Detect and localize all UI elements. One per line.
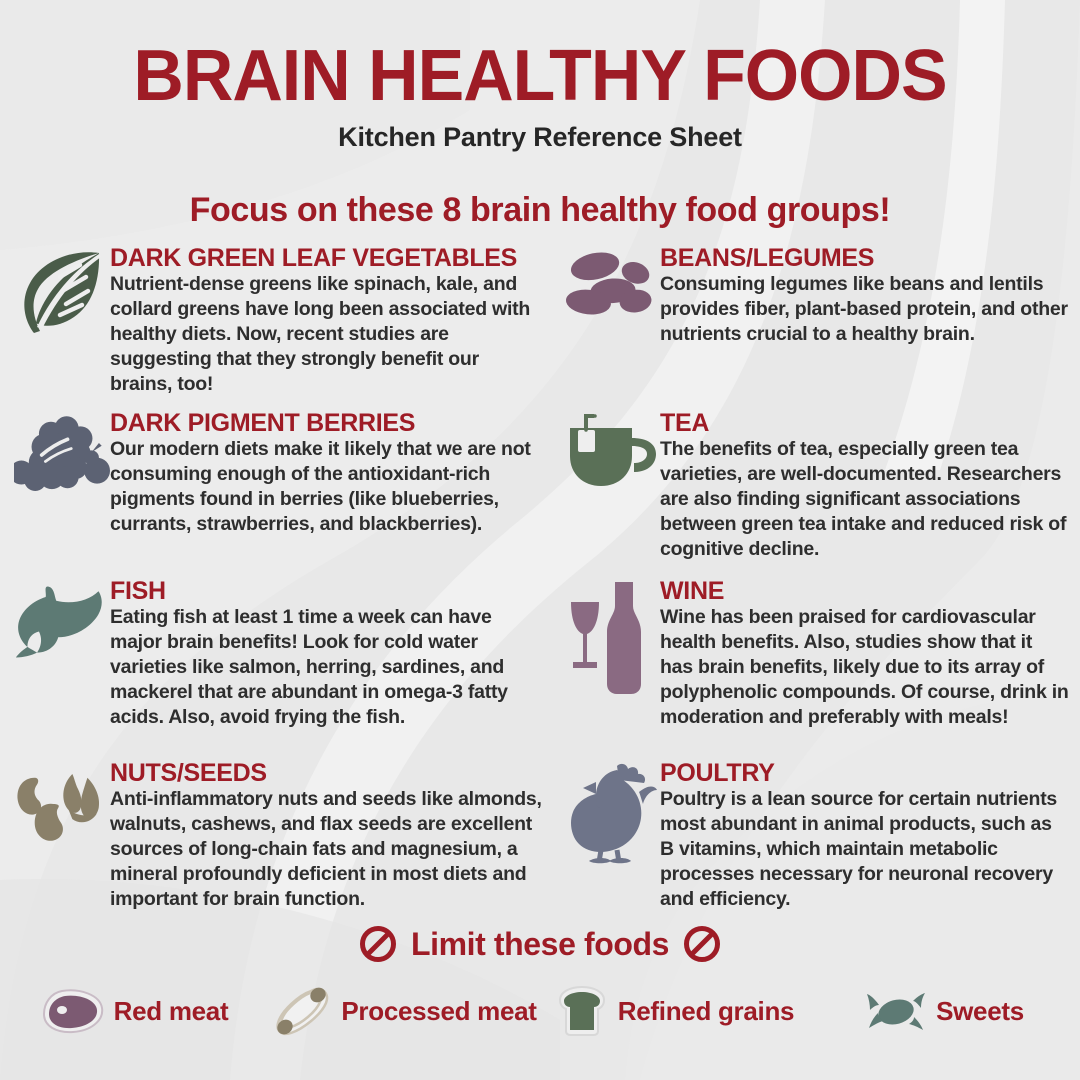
- food-group-beans-legumes: BEANS/LEGUMES Consuming legumes like bea…: [556, 243, 1080, 408]
- food-group-poultry: POULTRY Poultry is a lean source for cer…: [556, 758, 1080, 918]
- prohibited-icon: [683, 925, 721, 963]
- food-group-title: TEA: [660, 410, 1070, 436]
- food-group-text: TEA The benefits of tea, especially gree…: [660, 408, 1070, 562]
- food-group-tea: TEA The benefits of tea, especially gree…: [556, 408, 1080, 576]
- food-group-title: POULTRY: [660, 760, 1070, 786]
- focus-heading: Focus on these 8 brain healthy food grou…: [0, 191, 1080, 230]
- berries-icon: [14, 408, 110, 504]
- food-group-dark-pigment-berries: DARK PIGMENT BERRIES Our modern diets ma…: [0, 408, 556, 576]
- food-group-text: BEANS/LEGUMES Consuming legumes like bea…: [660, 243, 1070, 347]
- beans-icon: [564, 243, 660, 339]
- food-group-text: DARK PIGMENT BERRIES Our modern diets ma…: [110, 408, 542, 537]
- food-group-title: DARK PIGMENT BERRIES: [110, 410, 542, 436]
- food-group-nuts-seeds: NUTS/SEEDS Anti-inflammatory nuts and se…: [0, 758, 556, 918]
- page-title: BRAIN HEALTHY FOODS: [16, 0, 1064, 112]
- limit-foods-list: Red meat Processed meat Refined grains: [0, 985, 1080, 1037]
- food-group-text: FISH Eating fish at least 1 time a week …: [110, 576, 542, 730]
- hotdog-icon: [273, 985, 331, 1037]
- food-group-text: POULTRY Poultry is a lean source for cer…: [660, 758, 1070, 912]
- food-group-text: WINE Wine has been praised for cardiovas…: [660, 576, 1070, 730]
- wine-bottle-glass-icon: [564, 576, 660, 672]
- limit-item-red-meat: Red meat: [0, 988, 270, 1034]
- limit-item-label: Refined grains: [618, 996, 794, 1027]
- candy-icon: [866, 991, 926, 1031]
- teacup-icon: [564, 408, 660, 504]
- food-group-text: DARK GREEN LEAF VEGETABLES Nutrient-dens…: [110, 243, 542, 397]
- food-group-description: Anti-inflammatory nuts and seeds like al…: [110, 787, 542, 912]
- food-group-description: The benefits of tea, especially green te…: [660, 437, 1070, 562]
- food-group-description: Nutrient-dense greens like spinach, kale…: [110, 272, 542, 397]
- limit-item-label: Sweets: [936, 996, 1024, 1027]
- food-group-description: Our modern diets make it likely that we …: [110, 437, 542, 537]
- food-group-dark-green-leaf-vegetables: DARK GREEN LEAF VEGETABLES Nutrient-dens…: [0, 243, 556, 408]
- food-groups-grid: DARK GREEN LEAF VEGETABLES Nutrient-dens…: [0, 243, 1080, 918]
- limit-item-processed-meat: Processed meat: [270, 985, 540, 1037]
- page-subtitle: Kitchen Pantry Reference Sheet: [0, 122, 1080, 153]
- food-group-description: Poultry is a lean source for certain nut…: [660, 787, 1070, 912]
- food-group-title: FISH: [110, 578, 542, 604]
- food-group-text: NUTS/SEEDS Anti-inflammatory nuts and se…: [110, 758, 542, 912]
- leaf-icon: [14, 243, 110, 339]
- food-group-description: Eating fish at least 1 time a week can h…: [110, 605, 542, 730]
- chicken-icon: [564, 758, 660, 854]
- food-group-wine: WINE Wine has been praised for cardiovas…: [556, 576, 1080, 758]
- bread-slice-icon: [556, 985, 608, 1037]
- limit-item-refined-grains: Refined grains: [540, 985, 810, 1037]
- food-group-fish: FISH Eating fish at least 1 time a week …: [0, 576, 556, 758]
- food-group-description: Consuming legumes like beans and lentils…: [660, 272, 1070, 347]
- food-group-title: WINE: [660, 578, 1070, 604]
- fish-icon: [14, 576, 110, 672]
- nuts-seeds-icon: [14, 758, 110, 854]
- food-group-description: Wine has been praised for cardiovascular…: [660, 605, 1070, 730]
- food-group-title: NUTS/SEEDS: [110, 760, 542, 786]
- food-group-title: DARK GREEN LEAF VEGETABLES: [110, 245, 542, 271]
- limit-item-label: Red meat: [114, 996, 229, 1027]
- limit-foods-label: Limit these foods: [411, 926, 669, 963]
- limit-item-label: Processed meat: [341, 996, 536, 1027]
- limit-foods-heading: Limit these foods: [0, 925, 1080, 963]
- steak-icon: [42, 988, 104, 1034]
- prohibited-icon: [359, 925, 397, 963]
- limit-item-sweets: Sweets: [810, 991, 1080, 1031]
- food-group-title: BEANS/LEGUMES: [660, 245, 1070, 271]
